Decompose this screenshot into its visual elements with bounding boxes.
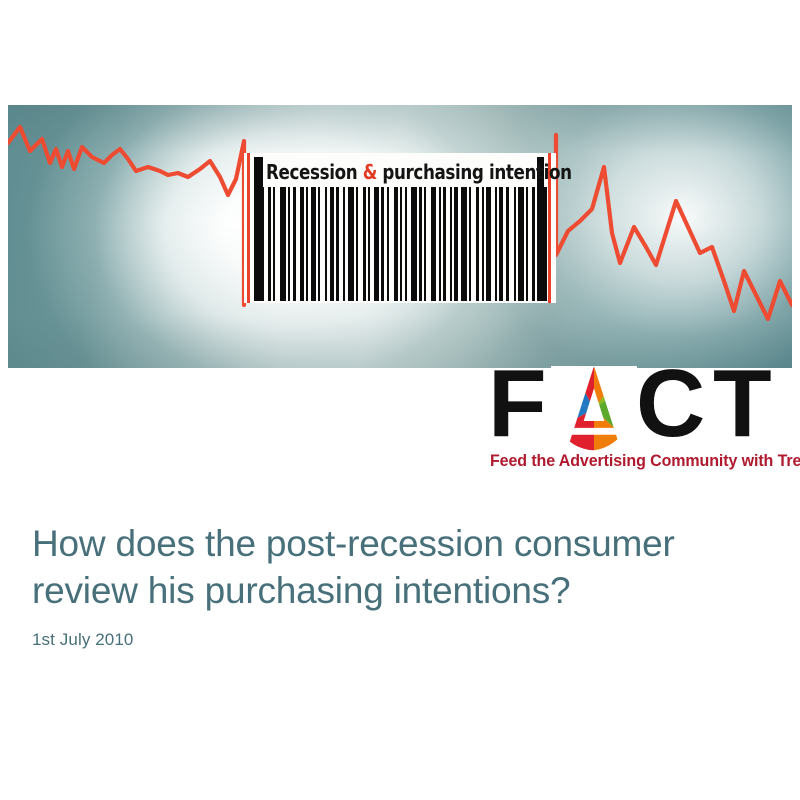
barcode-bar xyxy=(495,187,497,301)
barcode-bar xyxy=(518,187,524,301)
fact-wordmark: F xyxy=(488,366,794,450)
barcode-bar xyxy=(454,187,458,301)
fact-logo: F xyxy=(488,366,794,478)
barcode-title: Recession & purchasing intention xyxy=(266,159,521,185)
page-title: How does the post-recession consumer rev… xyxy=(32,520,772,614)
barcode-bar xyxy=(439,187,441,301)
barcode-bar xyxy=(288,187,290,301)
barcode-bar xyxy=(514,187,516,301)
barcode-bar xyxy=(374,187,379,301)
barcode-bar xyxy=(300,187,304,301)
barcode-bar xyxy=(363,187,366,301)
barcode-bar xyxy=(400,187,402,301)
barcode-bar xyxy=(532,187,535,301)
barcode-title-before: Recession xyxy=(266,160,363,184)
barcode-bar xyxy=(343,187,345,301)
barcode-bar xyxy=(381,187,384,301)
title-block: How does the post-recession consumer rev… xyxy=(32,520,772,650)
barcode-bar xyxy=(443,187,446,301)
barcode-bar xyxy=(325,187,327,301)
barcode-bar xyxy=(424,187,426,301)
barcode-bar xyxy=(273,187,275,301)
barcode-bar xyxy=(431,187,436,301)
logo-letter-c: C xyxy=(636,362,703,446)
barcode-bar xyxy=(411,187,417,301)
logo-tagline: Feed the Advertising Community with Tren… xyxy=(490,452,800,471)
barcode-bar xyxy=(405,187,407,301)
barcode-bar xyxy=(356,187,358,301)
hero-banner: Recession & purchasing intention xyxy=(8,105,792,368)
barcode-bars xyxy=(254,187,544,301)
barcode-bar xyxy=(306,187,308,301)
barcode-bar xyxy=(348,187,354,301)
barcode-bar xyxy=(506,187,509,301)
logo-letter-a-pie-icon xyxy=(551,366,637,452)
barcode-bar xyxy=(469,187,471,301)
barcode-bar xyxy=(387,187,389,301)
barcode-title-after: purchasing intention xyxy=(377,160,572,184)
barcode-bar xyxy=(450,187,452,301)
trend-line-left xyxy=(8,127,244,305)
barcode-bar xyxy=(280,187,286,301)
barcode-bar xyxy=(368,187,370,301)
barcode-bar xyxy=(293,187,296,301)
barcode-edge-line-left xyxy=(247,153,250,303)
barcode-bar xyxy=(336,187,339,301)
barcode-bar xyxy=(318,187,320,301)
logo-letter-t: T xyxy=(713,362,770,446)
barcode-bar xyxy=(311,187,316,301)
barcode-bar xyxy=(262,187,264,301)
barcode-bar xyxy=(419,187,422,301)
barcode-bar xyxy=(476,187,479,301)
barcode-title-ampersand: & xyxy=(363,160,377,184)
barcode-bar xyxy=(542,187,547,301)
logo-letter-f: F xyxy=(488,362,545,446)
barcode-bar xyxy=(526,187,528,301)
barcode-bar xyxy=(461,187,467,301)
barcode-bar xyxy=(394,187,398,301)
trend-line-right xyxy=(556,135,792,319)
barcode-graphic: Recession & purchasing intention xyxy=(244,153,556,303)
barcode-bar xyxy=(330,187,334,301)
barcode-bar xyxy=(486,187,491,301)
barcode-bar xyxy=(254,187,259,301)
barcode-bar xyxy=(268,187,271,301)
slide-date: 1st July 2010 xyxy=(32,630,772,650)
barcode-bar xyxy=(482,187,484,301)
barcode-bar xyxy=(499,187,503,301)
barcode-bar xyxy=(538,187,540,301)
